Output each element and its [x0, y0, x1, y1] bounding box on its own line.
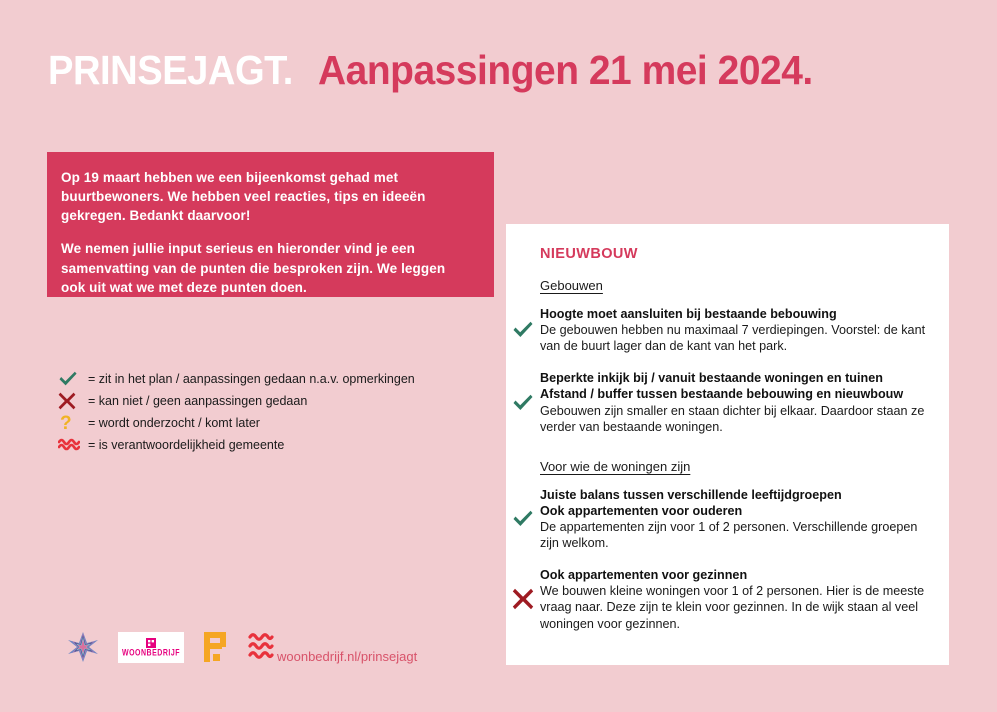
item-body: De appartementen zijn voor 1 of 2 person… — [540, 519, 931, 551]
nieuwbouw-card: NIEUWBOUW Gebouwen Hoogte moet aansluite… — [506, 224, 949, 665]
question-icon: ? — [58, 413, 88, 433]
item-bold-line: Juiste balans tussen verschillende leeft… — [540, 487, 931, 503]
section-heading-label: Voor wie de woningen zijn — [540, 459, 690, 474]
woonbedrijf-wordmark: WOONBEDRIJF — [122, 649, 180, 658]
wave-icon — [58, 437, 88, 453]
intro-box: Op 19 maart hebben we een bijeenkomst ge… — [47, 152, 494, 297]
page-title: PRINSEJAGT. Aanpassingen 21 mei 2024. — [48, 47, 839, 94]
cross-icon — [58, 392, 88, 410]
check-icon — [512, 508, 534, 530]
item-bold-line: Ook appartementen voor ouderen — [540, 503, 931, 519]
title-brand: PRINSEJAGT. — [48, 47, 293, 94]
legend-item-cross: = kan niet / geen aanpassingen gedaan — [58, 390, 478, 412]
intro-paragraph-2: We nemen jullie input serieus en hierond… — [61, 239, 472, 296]
list-item: Beperkte inkijk bij / vanuit bestaande w… — [540, 370, 931, 434]
woonbedrijf-logo: WOONBEDRIJF — [118, 632, 184, 663]
list-item: Juiste balans tussen verschillende leeft… — [540, 487, 931, 551]
item-bold-line: Ook appartementen voor gezinnen — [540, 567, 931, 583]
legend-item-question: ? = wordt onderzocht / komt later — [58, 412, 478, 434]
card-title: NIEUWBOUW — [540, 246, 931, 262]
item-bold-line: Hoogte moet aansluiten bij bestaande beb… — [540, 306, 931, 322]
item-bold-line: Beperkte inkijk bij / vanuit bestaande w… — [540, 370, 931, 386]
cross-icon — [512, 588, 534, 610]
list-item: Ook appartementen voor gezinnen We bouwe… — [540, 567, 931, 631]
footer-logos: WOONBEDRIJF — [66, 630, 274, 664]
check-icon — [512, 392, 534, 414]
check-icon — [512, 319, 534, 341]
item-body: Gebouwen zijn smaller en staan dichter b… — [540, 403, 931, 435]
legend-item-wave: = is verantwoordelijkheid gemeente — [58, 434, 478, 456]
title-subtitle: Aanpassingen 21 mei 2024. — [318, 47, 813, 94]
footer-url[interactable]: woonbedrijf.nl/prinsejagt — [277, 649, 417, 664]
eindhoven-star-logo — [66, 630, 100, 664]
intro-paragraph-1: Op 19 maart hebben we een bijeenkomst ge… — [61, 168, 472, 225]
legend-label: = kan niet / geen aanpassingen gedaan — [88, 394, 307, 409]
p-block-logo — [204, 632, 228, 662]
svg-text:?: ? — [60, 413, 72, 433]
section-heading-voor-wie: Voor wie de woningen zijn — [540, 459, 931, 474]
section-heading-label: Gebouwen — [540, 278, 603, 293]
legend-label: = wordt onderzocht / komt later — [88, 416, 260, 431]
legend-label: = is verantwoordelijkheid gemeente — [88, 438, 284, 453]
item-body: De gebouwen hebben nu maximaal 7 verdiep… — [540, 322, 931, 354]
wave-logo — [248, 632, 274, 662]
legend-item-check: = zit in het plan / aanpassingen gedaan … — [58, 368, 478, 390]
legend-label: = zit in het plan / aanpassingen gedaan … — [88, 372, 415, 387]
legend: = zit in het plan / aanpassingen gedaan … — [58, 368, 478, 456]
check-icon — [58, 371, 88, 387]
section-heading-gebouwen: Gebouwen — [540, 278, 931, 293]
list-item: Hoogte moet aansluiten bij bestaande beb… — [540, 306, 931, 354]
item-bold-line: Afstand / buffer tussen bestaande bebouw… — [540, 386, 931, 402]
item-body: We bouwen kleine woningen voor 1 of 2 pe… — [540, 583, 931, 631]
